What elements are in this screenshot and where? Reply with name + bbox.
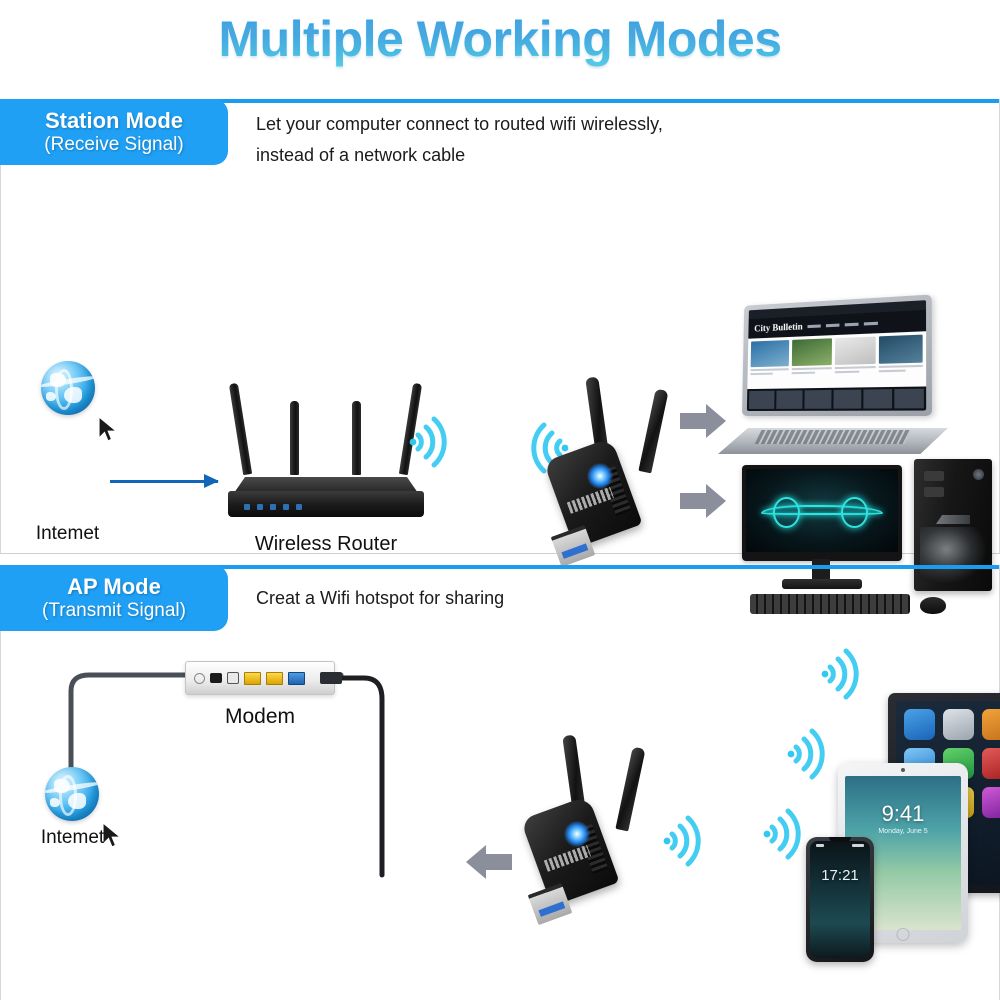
internet-caption: Intemet: [0, 523, 135, 545]
webpage-title: City Bulletin: [754, 321, 803, 333]
section-station-mode: Station Mode (Receive Signal) Let your c…: [0, 99, 1000, 554]
router-status-leds: [244, 504, 302, 510]
port-lan-yellow-2: [266, 672, 283, 685]
laptop-screen: City Bulletin: [747, 300, 926, 411]
tablet-wifi-waves-mid-icon: [786, 723, 838, 785]
usb-wifi-adapter: [535, 377, 685, 562]
internet-to-router-arrow: [110, 480, 218, 483]
ap-mode-diagram: Intemet Modem: [0, 565, 1000, 1000]
wireless-router-caption: Wireless Router: [228, 533, 424, 556]
tablet-camera-icon: [901, 768, 905, 772]
section-ap-mode: AP Mode (Transmit Signal) Creat a Wifi h…: [0, 565, 1000, 1000]
smartphone: 17:21: [806, 837, 874, 962]
phone-battery-icon: [852, 844, 864, 847]
app-icon-notes[interactable]: [982, 709, 1000, 740]
app-icon-photos[interactable]: [943, 709, 974, 740]
page-title: Multiple Working Modes: [0, 10, 1000, 68]
phone-signal-icon: [816, 844, 824, 847]
phone-clock: 17:21: [810, 867, 870, 884]
app-icon-music[interactable]: [982, 748, 1000, 779]
usb-wifi-adapter: [512, 735, 662, 920]
laptop-webpage: City Bulletin: [747, 310, 926, 411]
station-mode-diagram: Intemet Wireless Router: [0, 99, 1000, 554]
router-wifi-waves-icon: [408, 411, 456, 473]
internet-caption: Intemet: [5, 827, 140, 849]
power-button-icon[interactable]: [973, 469, 984, 480]
port-lan-yellow-1: [244, 672, 261, 685]
port-power-jack: [194, 673, 205, 684]
phone-screen: 17:21: [810, 841, 870, 958]
pc-monitor: [742, 465, 902, 561]
tablet-wifi-waves-top-icon: [820, 643, 872, 705]
modem-caption: Modem: [185, 705, 335, 729]
app-icon-camera[interactable]: [982, 787, 1000, 818]
laptop-keyboard: [755, 430, 912, 444]
adapter-led-icon: [564, 821, 590, 847]
internet-globe: [45, 767, 99, 821]
laptop-base: [718, 428, 948, 454]
port-wan-blue: [288, 672, 305, 685]
adapter-brand-label: [544, 845, 591, 872]
tablet-home-button[interactable]: [897, 928, 910, 941]
tablet-clock: 9:41: [845, 801, 961, 827]
internet-globe: [41, 361, 95, 415]
app-icon-safari[interactable]: [904, 709, 935, 740]
globe-icon: [45, 767, 99, 821]
port-power-block: [210, 673, 222, 683]
wireless-router: [228, 387, 424, 517]
pc-screen: [746, 469, 898, 552]
neon-car-wallpaper: [761, 496, 883, 524]
adapter-to-pc-arrow: [680, 484, 726, 518]
adapter-to-pc-arrow: [466, 845, 512, 879]
adapter-brand-label: [567, 487, 614, 514]
adapter-wifi-waves-icon: [662, 810, 714, 872]
modem-shell: [185, 661, 335, 695]
laptop: City Bulletin: [718, 304, 948, 454]
phone-notch-icon: [829, 837, 851, 842]
adapter-led-icon: [587, 463, 613, 489]
laptop-lid: City Bulletin: [742, 294, 932, 416]
modem-to-adapter-cable: [320, 669, 400, 879]
adapter-shell: [543, 437, 642, 548]
globe-icon: [41, 361, 95, 415]
modem: [185, 661, 335, 701]
port-square: [227, 672, 239, 684]
tablet-clock-date: Monday, June 5: [845, 828, 961, 835]
adapter-shell: [520, 795, 619, 906]
